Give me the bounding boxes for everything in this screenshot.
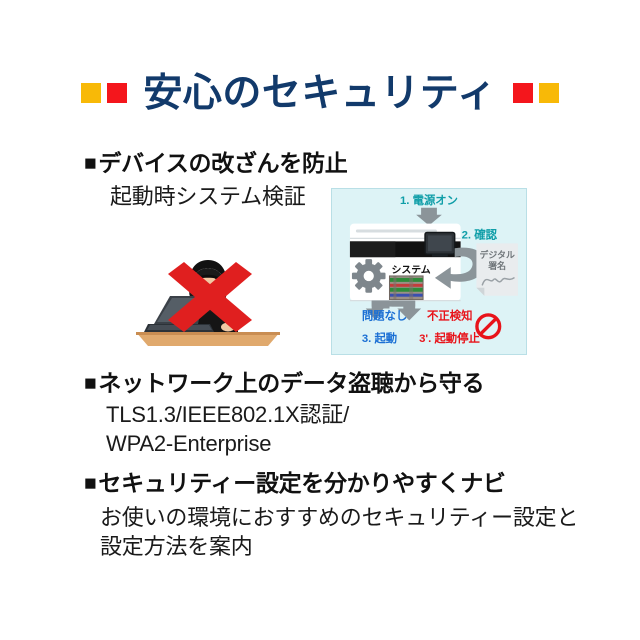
- page-title-bar: 安心のセキュリティ: [0, 68, 640, 118]
- boot-verification-diagram: 1. 電源オン: [331, 188, 527, 355]
- digital-signature-paper: デジタル 署名: [476, 243, 517, 295]
- section-2-heading: ■ネットワーク上のデータ盗聴から守る: [84, 370, 484, 396]
- diagram-step2-label: 2. 確認: [462, 227, 498, 241]
- section-2-subtext: TLS1.3/IEEE802.1X認証/ WPA2-Enterprise: [106, 400, 349, 458]
- diagram-ng-label: 不正検知: [427, 308, 472, 322]
- title-decoration-left: [81, 83, 127, 103]
- section-1-heading-text: デバイスの改ざんを防止: [98, 150, 347, 176]
- hacker-blocked-illustration: [118, 228, 298, 354]
- page-title: 安心のセキュリティ: [143, 74, 496, 113]
- section-3-subtext: お使いの環境におすすめのセキュリティー設定と 設定方法を案内: [100, 503, 578, 561]
- section-1-heading: ■デバイスの改ざんを防止: [84, 150, 347, 176]
- title-decoration-right: [513, 83, 559, 103]
- signature-label-line1: デジタル: [480, 249, 515, 260]
- red-square-icon: [513, 83, 533, 103]
- diagram-system-label: システム: [391, 264, 430, 276]
- bullet-square-icon: ■: [84, 372, 96, 396]
- signature-label-line2: 署名: [487, 260, 506, 271]
- diagram-step1-label: 1. 電源オン: [400, 193, 458, 207]
- red-square-icon: [107, 83, 127, 103]
- section-3-heading: ■セキュリティー設定を分かりやすくナビ: [84, 470, 506, 496]
- device-stack-card: システム: [350, 224, 461, 301]
- yellow-square-icon: [539, 83, 559, 103]
- diagram-ok-label: 問題なし: [362, 309, 407, 322]
- bullet-square-icon: ■: [84, 472, 96, 496]
- desk-shape: [136, 332, 280, 346]
- section-3-heading-text: セキュリティー設定を分かりやすくナビ: [98, 470, 505, 496]
- diagram-step3-ok-label: 3. 起動: [362, 331, 397, 345]
- prohibition-icon: [477, 315, 500, 338]
- yellow-square-icon: [81, 83, 101, 103]
- monitor-icon: [425, 232, 455, 256]
- section-2-heading-text: ネットワーク上のデータ盗聴から守る: [98, 370, 484, 396]
- diagram-step3-ng-label: 3'. 起動停止: [419, 331, 480, 345]
- tampered-image-thumbnail: [389, 276, 423, 300]
- section-1-subtext: 起動時システム検証: [110, 182, 306, 211]
- arrow-down-power-icon: [416, 208, 442, 226]
- bullet-square-icon: ■: [84, 152, 96, 176]
- gear-icon: [352, 259, 386, 293]
